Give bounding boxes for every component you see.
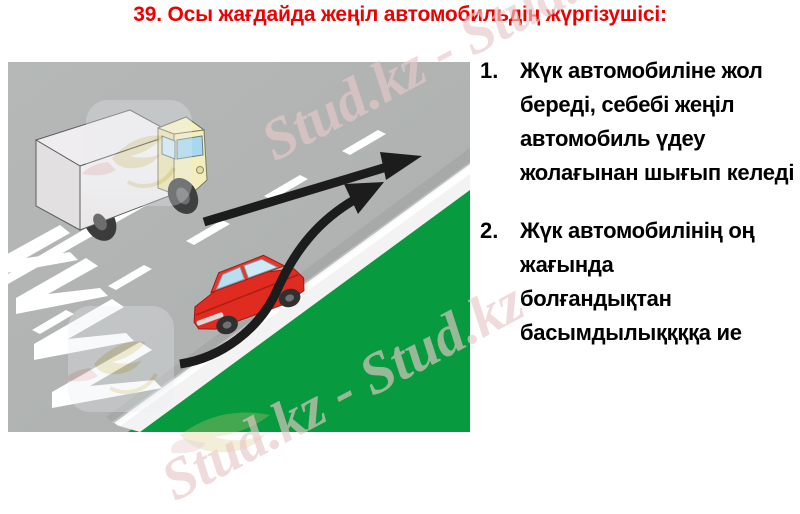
- truck-headlight: [197, 167, 204, 174]
- answer-option-1[interactable]: 1. Жүк автомобиліне жол береді, себебі ж…: [480, 54, 800, 190]
- page-title: 39. Осы жағдайда жеңіл автомобильдің жүр…: [0, 0, 800, 30]
- answer-1-text: Жүк автомобиліне жол береді, себебі жеңі…: [520, 54, 800, 190]
- answer-2-text: Жүк автомобилінің оң жағында болғандықта…: [520, 214, 770, 350]
- watermark-logo-bottom: [64, 306, 174, 412]
- traffic-situation-illustration: [8, 62, 470, 432]
- answer-option-2[interactable]: 2. Жүк автомобилінің оң жағында болғанды…: [480, 214, 800, 350]
- watermark-logo-top: [82, 100, 192, 206]
- answer-2-number: 2.: [480, 214, 520, 248]
- answer-1-number: 1.: [480, 54, 520, 88]
- illustration-svg: [8, 62, 470, 432]
- answers-list: 1. Жүк автомобиліне жол береді, себебі ж…: [480, 54, 800, 350]
